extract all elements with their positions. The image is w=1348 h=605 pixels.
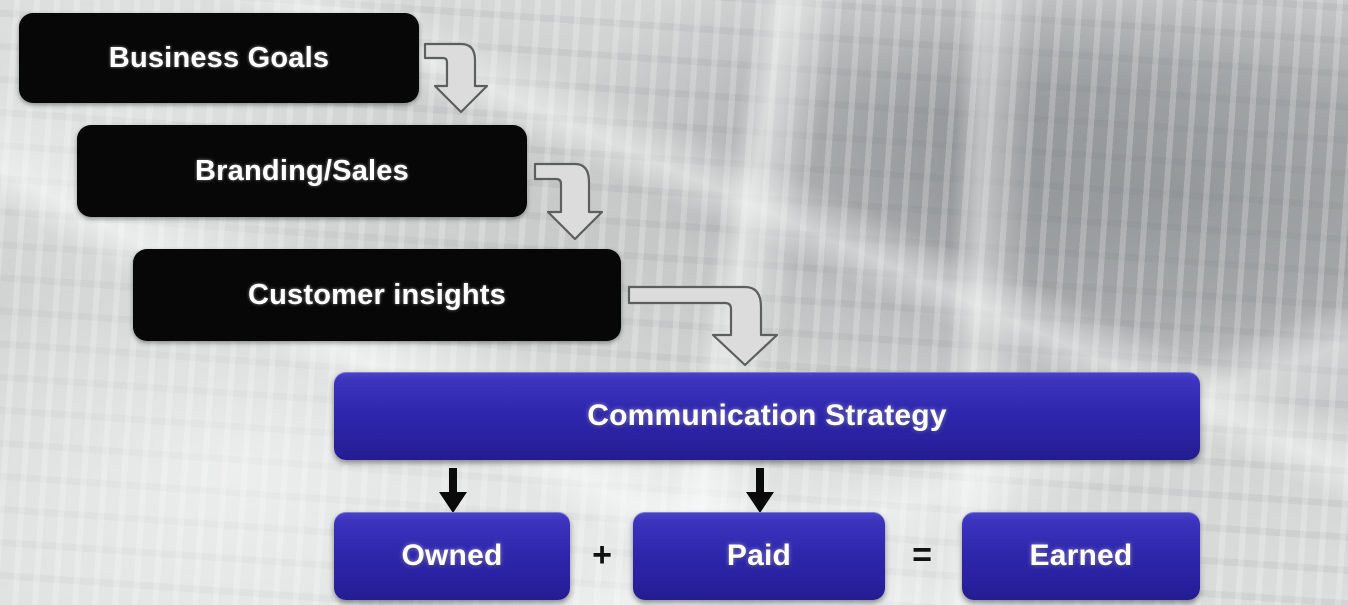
down-arrow-strategy-to-paid <box>744 468 776 514</box>
elbow-arrow-insights-to-strategy <box>627 281 785 368</box>
diagram-canvas: Business Goals Branding/Sales Customer i… <box>0 0 1348 605</box>
node-paid[interactable]: Paid <box>633 512 885 600</box>
node-branding-sales[interactable]: Branding/Sales <box>77 125 527 217</box>
node-earned[interactable]: Earned <box>962 512 1200 600</box>
node-communication-strategy-label: Communication Strategy <box>334 399 1200 433</box>
elbow-arrow-branding-to-insights <box>533 158 611 244</box>
node-business-goals-label: Business Goals <box>19 42 419 75</box>
node-communication-strategy[interactable]: Communication Strategy <box>334 372 1200 460</box>
node-earned-label: Earned <box>962 539 1200 573</box>
node-owned-label: Owned <box>334 539 570 573</box>
elbow-arrow-goals-to-branding <box>423 38 495 116</box>
node-customer-insights-label: Customer insights <box>133 279 621 312</box>
operator-plus: + <box>584 538 620 572</box>
operator-equals: = <box>904 538 940 572</box>
node-paid-label: Paid <box>633 539 885 573</box>
node-customer-insights[interactable]: Customer insights <box>133 249 621 341</box>
node-business-goals[interactable]: Business Goals <box>19 13 419 103</box>
node-branding-sales-label: Branding/Sales <box>77 155 527 188</box>
node-owned[interactable]: Owned <box>334 512 570 600</box>
down-arrow-strategy-to-owned <box>437 468 469 514</box>
